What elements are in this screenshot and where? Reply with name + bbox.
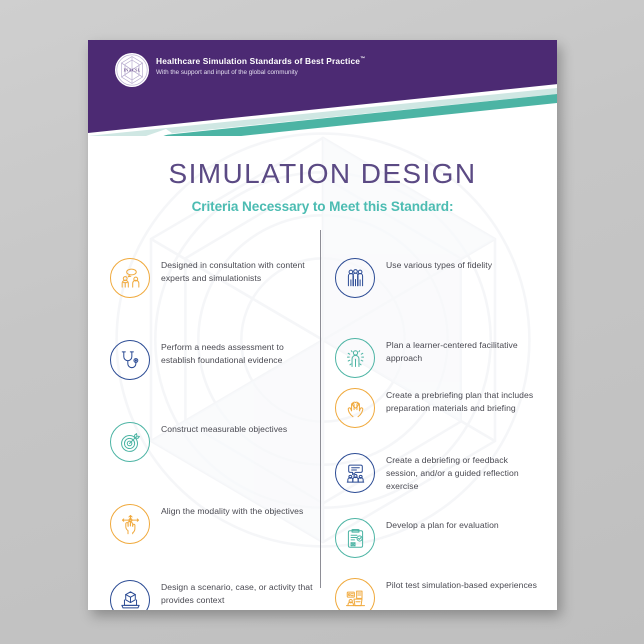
criteria-item-label: Construct measurable objectives <box>161 422 287 436</box>
hands-heart-prebriefing-icon <box>335 388 375 428</box>
criteria-columns: Designed in consultation with content ex… <box>88 230 557 600</box>
criteria-item: Develop a plan for evaluation <box>335 518 540 558</box>
group-people-fidelity-icon <box>335 258 375 298</box>
criteria-item-label: Pilot test simulation-based experiences <box>386 578 537 592</box>
page-title: SIMULATION DESIGN <box>88 158 557 190</box>
criteria-item: Pilot test simulation-based experiences <box>335 578 540 610</box>
criteria-item-label: Designed in consultation with content ex… <box>161 258 315 285</box>
criteria-item-label: Create a debriefing or feedback session,… <box>386 453 540 493</box>
stethoscope-icon <box>110 340 150 380</box>
svg-text:INACSL: INACSL <box>123 68 140 73</box>
criteria-item-label: Develop a plan for evaluation <box>386 518 499 532</box>
poster-header: INACSL Healthcare Simulation Standards o… <box>88 40 557 136</box>
header-subtitle: With the support and input of the global… <box>156 69 365 77</box>
criteria-item-label: Align the modality with the objectives <box>161 504 303 518</box>
debriefing-discussion-icon <box>335 453 375 493</box>
criteria-item-label: Use various types of fidelity <box>386 258 492 272</box>
poster-stage: INACSL Healthcare Simulation Standards o… <box>0 0 644 644</box>
header-diagonal-stripes <box>88 40 557 136</box>
podium-pilot-test-icon <box>335 578 375 610</box>
consultation-people-icon <box>110 258 150 298</box>
criteria-item: Designed in consultation with content ex… <box>110 258 315 298</box>
criteria-item: Align the modality with the objectives <box>110 504 315 544</box>
criteria-item-label: Design a scenario, case, or activity tha… <box>161 580 315 607</box>
criteria-item: Construct measurable objectives <box>110 422 315 462</box>
criteria-item-label: Plan a learner-centered facilitative app… <box>386 338 540 365</box>
criteria-item: Use various types of fidelity <box>335 258 540 298</box>
target-dart-icon <box>110 422 150 462</box>
page-subtitle: Criteria Necessary to Meet this Standard… <box>88 199 557 214</box>
criteria-item: Create a debriefing or feedback session,… <box>335 453 540 493</box>
criteria-item: Plan a learner-centered facilitative app… <box>335 338 540 378</box>
column-divider <box>320 230 321 588</box>
learner-centered-person-icon <box>335 338 375 378</box>
criteria-item-label: Perform a needs assessment to establish … <box>161 340 315 367</box>
criteria-item: Design a scenario, case, or activity tha… <box>110 580 315 610</box>
header-title: Healthcare Simulation Standards of Best … <box>156 56 365 67</box>
header-text-block: Healthcare Simulation Standards of Best … <box>156 56 365 77</box>
criteria-item: Create a prebriefing plan that includes … <box>335 388 540 428</box>
inacsl-gem-logo: INACSL <box>114 52 150 88</box>
header-title-text: Healthcare Simulation Standards of Best … <box>156 56 360 66</box>
clipboard-evaluation-icon <box>335 518 375 558</box>
criteria-item: Perform a needs assessment to establish … <box>110 340 315 380</box>
poster: INACSL Healthcare Simulation Standards o… <box>88 40 557 610</box>
hand-pointer-modality-icon <box>110 504 150 544</box>
criteria-item-label: Create a prebriefing plan that includes … <box>386 388 540 415</box>
trademark-mark: ™ <box>360 56 365 62</box>
laptop-box-scenario-icon <box>110 580 150 610</box>
